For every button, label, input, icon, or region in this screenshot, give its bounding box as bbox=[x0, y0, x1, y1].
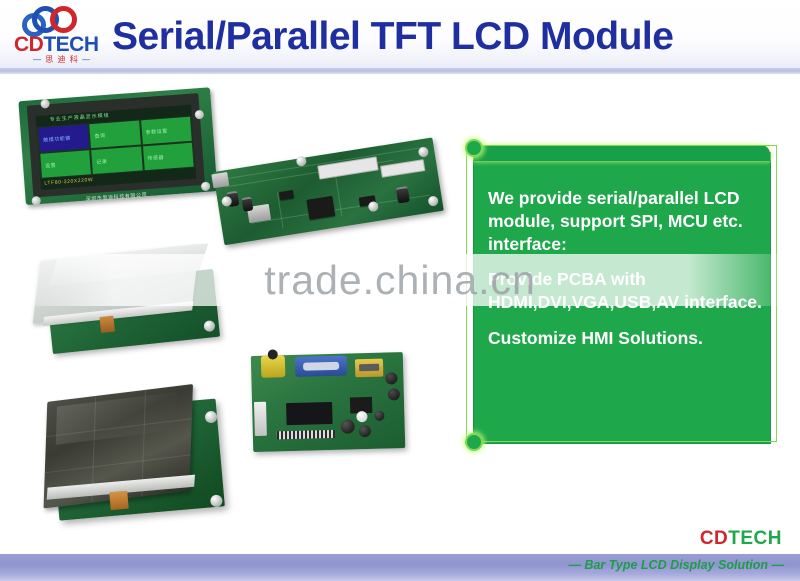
pcb-fpc-slot bbox=[380, 159, 425, 178]
lcd-panel-glass-highlight bbox=[48, 243, 208, 286]
logo-ring-red bbox=[50, 6, 77, 33]
lcd-touch-fpc-cable bbox=[109, 491, 129, 511]
lcd-module-bezel: 专业生产液晶显示模组 触摸功能键 查询 参数设置 设置 记录 传感器 LTF80… bbox=[27, 93, 205, 197]
slide-body: 专业生产液晶显示模组 触摸功能键 查询 参数设置 设置 记录 传感器 LTF80… bbox=[0, 74, 800, 554]
av-board-main-chip bbox=[286, 402, 333, 425]
lcd-screen-cell: 查询 bbox=[90, 121, 141, 149]
lcd-panel-fpc-cable bbox=[99, 316, 115, 333]
screw-pad-icon bbox=[31, 196, 41, 206]
logo-subtitle-dash-left: — bbox=[33, 55, 42, 64]
lcd-cell-label: 记录 bbox=[96, 158, 107, 166]
pcb-capacitor bbox=[340, 419, 354, 433]
product-photo-av-vga-hdmi-board bbox=[251, 344, 410, 458]
av-board-pcb bbox=[251, 352, 405, 452]
lcd-screen-cell: 触摸功能键 bbox=[38, 124, 89, 152]
footer-brand-cd: CD bbox=[700, 528, 728, 549]
pcb-capacitor bbox=[241, 196, 253, 211]
audio-jack-icon bbox=[385, 372, 397, 384]
cdtech-logo: CDTECH — 思 迪 科 — bbox=[14, 4, 110, 66]
footer-brand: CDTECH bbox=[582, 528, 782, 552]
lcd-touch-glass-reflection bbox=[56, 392, 177, 445]
hdmi-connector-icon bbox=[355, 359, 383, 378]
logo-subtitle: — 思 迪 科 — bbox=[16, 54, 108, 65]
callout-resize-handle-top-left[interactable] bbox=[465, 139, 483, 157]
product-photo-lcd-menu-module: 专业生产液晶显示模组 触摸功能键 查询 参数设置 设置 记录 传感器 LTF80… bbox=[18, 81, 222, 213]
lcd-screen-model-code: LTF80-320X220W bbox=[44, 177, 93, 187]
callout-resize-handle-bottom-left[interactable] bbox=[465, 433, 483, 451]
screw-pad-icon bbox=[368, 201, 379, 212]
logo-subtitle-dash-right: — bbox=[82, 55, 91, 64]
lcd-screen-cell: 传感器 bbox=[143, 143, 194, 171]
pcb-capacitor bbox=[374, 411, 384, 421]
audio-jack-icon bbox=[388, 388, 400, 400]
screw-pad-icon bbox=[201, 182, 211, 192]
screw-pad-icon bbox=[418, 146, 429, 157]
lcd-module-screen: 专业生产液晶显示模组 触摸功能键 查询 参数设置 设置 记录 传感器 LTF80… bbox=[36, 105, 197, 190]
footer-tagline: — Bar Type LCD Display Solution — bbox=[568, 558, 784, 572]
controller-pcb-board bbox=[213, 137, 444, 245]
callout-paragraph-2: Provide PCBA with HDMI,DVI,VGA,USB,AV in… bbox=[488, 268, 764, 314]
product-photo-controller-pcb bbox=[210, 119, 452, 271]
pcb-chip bbox=[279, 190, 294, 200]
lcd-cell-label: 查询 bbox=[94, 132, 105, 140]
logo-word-cd: CD bbox=[14, 33, 43, 56]
logo-word-tech: TECH bbox=[43, 33, 98, 56]
lcd-touch-grid-line bbox=[45, 454, 191, 473]
rca-connector-icon bbox=[261, 355, 286, 378]
page-title: Serial/Parallel TFT LCD Module bbox=[112, 13, 673, 61]
pcb-white-connector bbox=[254, 402, 267, 436]
green-callout-box: We provide serial/parallel LCD module, s… bbox=[466, 139, 778, 449]
logo-wordmark: CDTECH bbox=[14, 33, 110, 55]
footer-brand-tech: TECH bbox=[728, 528, 782, 549]
product-photo-lcd-panel-side bbox=[32, 233, 224, 371]
pcb-capacitor bbox=[396, 186, 410, 204]
screw-pad-icon bbox=[203, 320, 215, 332]
pcb-connector bbox=[211, 172, 229, 188]
lcd-cell-label: 触摸功能键 bbox=[43, 135, 71, 144]
lcd-cell-label: 传感器 bbox=[147, 154, 164, 162]
pcb-capacitor bbox=[359, 425, 371, 437]
pcb-capacitor bbox=[356, 411, 367, 422]
pin-header-icon bbox=[277, 430, 335, 440]
lcd-screen-cell: 参数设置 bbox=[141, 117, 192, 145]
callout-paragraph-1: We provide serial/parallel LCD module, s… bbox=[488, 187, 764, 255]
lcd-cell-label: 设置 bbox=[45, 162, 56, 170]
pcb-lvds-slot bbox=[317, 156, 378, 179]
lcd-module-pcb: 专业生产液晶显示模组 触摸功能键 查询 参数设置 设置 记录 传感器 LTF80… bbox=[18, 87, 217, 205]
callout-paragraph-3: Customize HMI Solutions. bbox=[488, 327, 764, 350]
vga-connector-icon bbox=[295, 356, 348, 377]
lcd-screen-cell: 设置 bbox=[40, 150, 91, 178]
callout-text: We provide serial/parallel LCD module, s… bbox=[488, 187, 764, 350]
slide-header: CDTECH — 思 迪 科 — Serial/Parallel TFT LCD… bbox=[0, 0, 800, 73]
pcb-main-chip bbox=[306, 196, 335, 220]
screw-pad-icon bbox=[427, 195, 438, 206]
lcd-screen-title: 专业生产液晶显示模组 bbox=[50, 112, 110, 123]
screw-pad-icon bbox=[195, 110, 205, 120]
lcd-screen-cell: 记录 bbox=[91, 146, 142, 174]
product-photo-lcd-touch-panel bbox=[36, 376, 230, 531]
lcd-cell-label: 参数设置 bbox=[145, 127, 167, 136]
slide-canvas: CDTECH — 思 迪 科 — Serial/Parallel TFT LCD… bbox=[0, 0, 800, 581]
logo-subtitle-cn: 思 迪 科 bbox=[45, 55, 78, 64]
